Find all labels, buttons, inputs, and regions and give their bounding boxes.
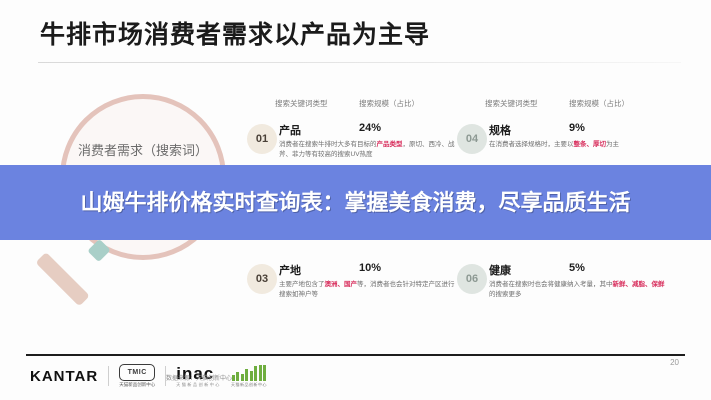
list-item[interactable]: 06 健康 5% 消费者在搜索时也会将健康纳入考量，其中新鲜、减脂、保鲜的搜索更…: [457, 256, 669, 326]
row-desc-post: 为主: [606, 141, 619, 148]
row-description: 在消费者选择规格时，主要以整条、厚切为主: [489, 140, 667, 150]
row-name: 产品: [279, 122, 301, 138]
row-percentage: 10%: [359, 262, 381, 274]
bar-chart-icon: [232, 365, 267, 381]
tmic-mark-icon: TMIC: [119, 364, 155, 381]
row-index-badge: 03: [247, 264, 277, 294]
row-percentage: 9%: [569, 122, 585, 134]
row-desc-highlight: 新鲜、减脂、保鲜: [613, 281, 665, 288]
title-divider: [38, 62, 681, 63]
row-name: 规格: [489, 122, 511, 138]
page-title: 牛排市场消费者需求以产品为主导: [40, 18, 676, 52]
bars-subtitle: 天猫新品创新中心: [231, 382, 267, 388]
row-desc-highlight: 澳洲、国产: [325, 281, 358, 288]
row-desc-pre: 消费者在搜索牛排时大多有目标的: [279, 141, 377, 148]
magnifier-handle-icon: [35, 252, 89, 306]
row-desc-pre: 在消费者选择规格时，主要以: [489, 141, 574, 148]
row-desc-pre: 主要产地包含了: [279, 281, 325, 288]
tmic-subtitle: 天猫新品创新中心: [119, 382, 155, 388]
slide-title-area: 牛排市场消费者需求以产品为主导: [40, 18, 676, 64]
row-desc-highlight: 产品类型: [377, 141, 403, 148]
row-index-badge: 06: [457, 264, 487, 294]
column-header-scale: 搜索规模（占比）: [359, 98, 419, 109]
row-description: 主要产地包含了澳洲、国产等，消费者也会针对特定产区进行搜索如神户等: [279, 280, 457, 299]
column-header-scale: 搜索规模（占比）: [569, 98, 629, 109]
tmic-logo: TMIC 天猫新品创新中心: [119, 364, 155, 388]
presentation-slide: 牛排市场消费者需求以产品为主导 消费者需求（搜索词） 整体分布情况 搜索关键词类…: [0, 0, 711, 400]
caption-banner: 山姆牛排价格实时查询表：掌握美食消费，尽享品质生活: [0, 165, 711, 240]
slide-footer: KANTAR TMIC 天猫新品创新中心 inac 天猫新品创新中心 天猫新品创…: [26, 356, 685, 394]
page-number: 20: [670, 358, 679, 367]
row-desc-highlight: 整条、厚切: [574, 141, 607, 148]
row-percentage: 24%: [359, 122, 381, 134]
row-index-badge: 04: [457, 124, 487, 154]
column-header-left: 搜索关键词类型 搜索规模（占比）: [247, 98, 459, 116]
bars-logo: 天猫新品创新中心: [231, 365, 267, 388]
inac-subtitle: 天猫新品创新中心: [176, 382, 221, 388]
row-description: 消费者在搜索时也会将健康纳入考量，其中新鲜、减脂、保鲜的搜索更多: [489, 280, 667, 299]
row-index-badge: 01: [247, 124, 277, 154]
column-header-right: 搜索关键词类型 搜索规模（占比）: [457, 98, 669, 116]
magnifier-caption-line1: 消费者需求（搜索词）: [62, 140, 224, 162]
row-percentage: 5%: [569, 262, 585, 274]
column-header-type: 搜索关键词类型: [275, 98, 328, 109]
row-desc-post: 的搜索更多: [489, 291, 522, 298]
logo-divider: [108, 366, 109, 386]
kantar-logo: KANTAR: [30, 368, 98, 385]
row-description: 消费者在搜索牛排时大多有目标的产品类型，原切、西冷、战斧、菲力等有较高的搜索UV…: [279, 140, 457, 159]
row-name: 健康: [489, 262, 511, 278]
source-note: 数据来源：天猫创新中心: [166, 373, 232, 382]
caption-text: 山姆牛排价格实时查询表：掌握美食消费，尽享品质生活: [36, 187, 676, 218]
row-desc-pre: 消费者在搜索时也会将健康纳入考量，其中: [489, 281, 613, 288]
row-name: 产地: [279, 262, 301, 278]
column-header-type: 搜索关键词类型: [485, 98, 538, 109]
list-item[interactable]: 03 产地 10% 主要产地包含了澳洲、国产等，消费者也会针对特定产区进行搜索如…: [247, 256, 459, 326]
